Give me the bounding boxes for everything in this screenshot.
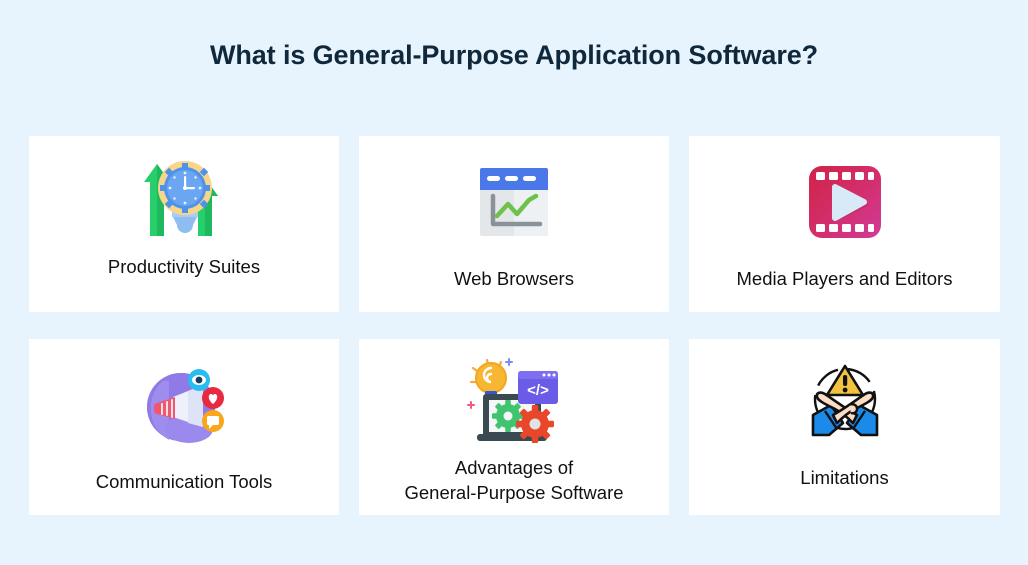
page-title: What is General-Purpose Application Soft… <box>0 40 1028 71</box>
card-label: Productivity Suites <box>98 254 270 279</box>
card-productivity-suites[interactable]: Productivity Suites <box>29 136 339 312</box>
browser-window-chart-icon <box>478 160 550 244</box>
megaphone-social-badges-icon <box>143 365 225 449</box>
card-communication-tools[interactable]: Communication Tools <box>29 339 339 515</box>
card-grid: Productivity Suites <box>29 136 1000 515</box>
card-advantages-of-general-purpose-software[interactable]: </> Advantages of General-Purpose Softwa… <box>359 339 669 515</box>
crossed-arms-warning-icon <box>805 359 885 443</box>
card-limitations[interactable]: Limitations <box>689 339 1000 515</box>
card-label: Limitations <box>790 465 898 490</box>
card-label: Web Browsers <box>444 266 584 291</box>
laptop-gears-bulb-code-icon: </> <box>465 359 563 443</box>
svg-text:</>: </> <box>527 382 549 399</box>
infographic-page: What is General-Purpose Application Soft… <box>0 0 1028 565</box>
card-label: Media Players and Editors <box>727 266 963 291</box>
lightbulb-clock-growth-arrows-icon <box>142 156 226 240</box>
card-label: Advantages of General-Purpose Software <box>394 455 633 505</box>
film-strip-play-icon <box>807 160 883 244</box>
card-web-browsers[interactable]: Web Browsers <box>359 136 669 312</box>
card-media-players-and-editors[interactable]: Media Players and Editors <box>689 136 1000 312</box>
card-label: Communication Tools <box>86 469 283 494</box>
